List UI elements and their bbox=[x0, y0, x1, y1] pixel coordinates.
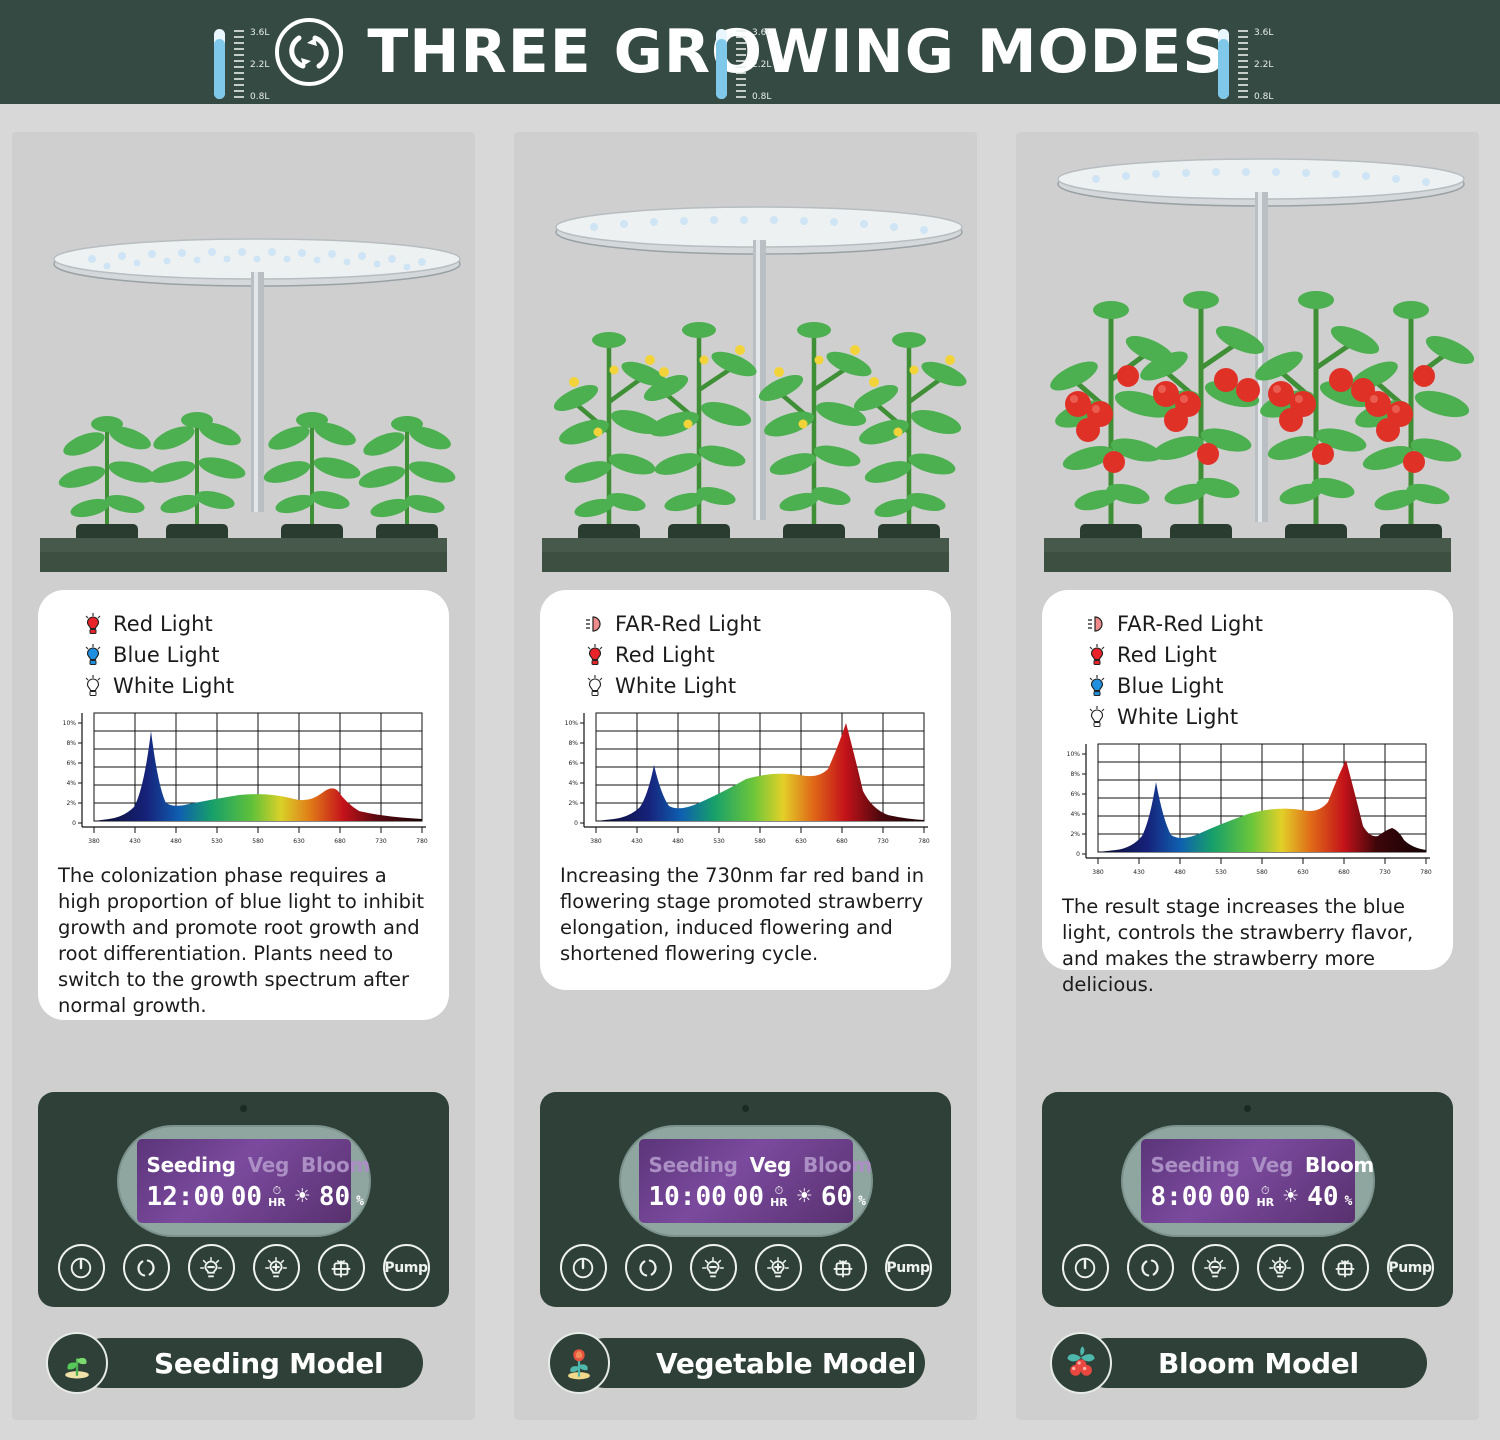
svg-text:630: 630 bbox=[795, 838, 807, 845]
clock-icon: ⏱ bbox=[775, 1186, 784, 1197]
lcd-seconds-value: 00 bbox=[733, 1182, 764, 1212]
svg-text:430: 430 bbox=[1133, 869, 1145, 876]
mode-cycle-icon[interactable] bbox=[1127, 1244, 1174, 1291]
svg-text:680: 680 bbox=[836, 838, 848, 845]
legend-label: White Light bbox=[615, 674, 736, 698]
svg-text:630: 630 bbox=[1297, 869, 1309, 876]
spectrum-card-bloom: FAR-Red Light Red Light bbox=[1042, 590, 1453, 970]
legend-seeding: Red Light Blue Light bbox=[82, 608, 433, 701]
svg-text:2%: 2% bbox=[568, 800, 578, 807]
mode-cycle-icon[interactable] bbox=[625, 1244, 672, 1291]
gauge-mark-high: 3.6L bbox=[752, 28, 771, 38]
panel-description: The colonization phase requires a high p… bbox=[54, 863, 433, 1019]
svg-text:6%: 6% bbox=[568, 760, 578, 767]
badge-label: Bloom Model bbox=[1158, 1347, 1359, 1380]
legend-vegetable: FAR-Red Light Red Light bbox=[584, 608, 935, 701]
svg-text:530: 530 bbox=[1215, 869, 1227, 876]
device-illustration-bloom: 3.6L 2.2L 0.8L bbox=[1016, 132, 1479, 572]
lcd-display: Seeding Veg Bloom 8:00 00 ⏱ HR ☀ 40 % bbox=[1141, 1139, 1355, 1223]
svg-text:780: 780 bbox=[918, 838, 930, 845]
svg-text:580: 580 bbox=[754, 838, 766, 845]
legend-item: Red Light bbox=[1086, 639, 1437, 670]
svg-text:730: 730 bbox=[1379, 869, 1391, 876]
lcd-hr-label: HR bbox=[268, 1197, 286, 1208]
brightness-sun-icon: ☀ bbox=[1282, 1185, 1299, 1208]
lcd-mode-bloom: Bloom bbox=[301, 1153, 370, 1177]
page-title: THREE GROWING MODES bbox=[367, 17, 1226, 87]
legend-label: FAR-Red Light bbox=[615, 612, 761, 636]
svg-text:780: 780 bbox=[416, 838, 428, 845]
pump-icon[interactable]: Pump bbox=[383, 1244, 430, 1291]
legend-item: White Light bbox=[1086, 701, 1437, 732]
svg-text:780: 780 bbox=[1420, 869, 1432, 876]
control-panel-seeding: Seeding Veg Bloom 12:00 00 ⏱ HR ☀ 80 % bbox=[38, 1092, 449, 1307]
white-bulb-icon bbox=[82, 674, 104, 698]
legend-item: White Light bbox=[584, 670, 935, 701]
legend-item: FAR-Red Light bbox=[1086, 608, 1437, 639]
svg-text:6%: 6% bbox=[1070, 791, 1080, 798]
lcd-hour-unit: ⏱ HR bbox=[268, 1186, 286, 1208]
legend-bloom: FAR-Red Light Red Light bbox=[1086, 608, 1437, 732]
blue-bulb-icon bbox=[82, 643, 104, 667]
lcd-mode-seeding: Seeding bbox=[147, 1153, 236, 1177]
svg-text:680: 680 bbox=[334, 838, 346, 845]
svg-text:4%: 4% bbox=[1070, 811, 1080, 818]
legend-label: FAR-Red Light bbox=[1117, 612, 1263, 636]
lcd-bezel: Seeding Veg Bloom 10:00 00 ⏱ HR ☀ 60 % bbox=[619, 1125, 873, 1237]
lcd-mode-veg: Veg bbox=[1252, 1153, 1293, 1177]
svg-text:0: 0 bbox=[1076, 851, 1080, 858]
lcd-brightness-unit: % bbox=[356, 1182, 364, 1212]
svg-text:430: 430 bbox=[129, 838, 141, 845]
lcd-seconds-value: 00 bbox=[1219, 1182, 1250, 1212]
legend-item: White Light bbox=[82, 670, 433, 701]
berries-icon bbox=[1050, 1332, 1112, 1394]
lcd-mode-veg: Veg bbox=[750, 1153, 791, 1177]
gauge-mark-low: 0.8L bbox=[752, 92, 771, 102]
badge-label: Vegetable Model bbox=[656, 1347, 916, 1380]
lcd-display: Seeding Veg Bloom 10:00 00 ⏱ HR ☀ 60 % bbox=[639, 1139, 853, 1223]
legend-label: Blue Light bbox=[1117, 674, 1224, 698]
indicator-dot bbox=[240, 1105, 247, 1112]
indicator-dot bbox=[1244, 1105, 1251, 1112]
gauge-mark-mid: 2.2L bbox=[752, 60, 771, 70]
red-bulb-icon bbox=[82, 612, 104, 636]
svg-text:480: 480 bbox=[672, 838, 684, 845]
mode-badge-bloom: Bloom Model bbox=[1042, 1332, 1453, 1394]
lcd-hour-unit: ⏱ HR bbox=[770, 1186, 788, 1208]
lcd-brightness-unit: % bbox=[858, 1182, 866, 1212]
panel-description: Increasing the 730nm far red band in flo… bbox=[556, 863, 935, 967]
gauge-mark-mid: 2.2L bbox=[250, 60, 269, 70]
svg-text:480: 480 bbox=[170, 838, 182, 845]
lcd-brightness-value: 60 bbox=[821, 1182, 852, 1212]
badge-pill: Seeding Model bbox=[78, 1338, 423, 1388]
svg-text:530: 530 bbox=[211, 838, 223, 845]
far-red-icon bbox=[584, 612, 606, 636]
svg-text:2%: 2% bbox=[1070, 831, 1080, 838]
lcd-readout-row: 8:00 00 ⏱ HR ☀ 40 % bbox=[1151, 1182, 1345, 1212]
lcd-timer-value: 12:00 bbox=[147, 1182, 225, 1212]
control-button-row: Pump bbox=[540, 1244, 951, 1291]
lcd-hr-label: HR bbox=[770, 1197, 788, 1208]
lcd-readout-row: 10:00 00 ⏱ HR ☀ 60 % bbox=[649, 1182, 843, 1212]
svg-text:630: 630 bbox=[293, 838, 305, 845]
legend-item: Red Light bbox=[82, 608, 433, 639]
fan-timer-icon[interactable] bbox=[318, 1244, 365, 1291]
lcd-bezel: Seeding Veg Bloom 12:00 00 ⏱ HR ☀ 80 % bbox=[117, 1125, 371, 1237]
svg-text:10%: 10% bbox=[63, 720, 77, 727]
svg-text:8%: 8% bbox=[66, 740, 76, 747]
legend-label: Red Light bbox=[1117, 643, 1217, 667]
mode-badge-vegetable: Vegetable Model bbox=[540, 1332, 951, 1394]
control-panel-vegetable: Seeding Veg Bloom 10:00 00 ⏱ HR ☀ 60 % bbox=[540, 1092, 951, 1307]
panel-seeding: 3.6L 2.2L 0.8L Red Light bbox=[12, 132, 475, 1420]
svg-text:8%: 8% bbox=[1070, 771, 1080, 778]
power-icon[interactable] bbox=[1062, 1244, 1109, 1291]
legend-label: White Light bbox=[1117, 705, 1238, 729]
far-red-icon bbox=[1086, 612, 1108, 636]
control-panel-bloom: Seeding Veg Bloom 8:00 00 ⏱ HR ☀ 40 % bbox=[1042, 1092, 1453, 1307]
badge-pill: Vegetable Model bbox=[580, 1338, 925, 1388]
clock-icon: ⏱ bbox=[1261, 1186, 1270, 1197]
lcd-brightness-unit: % bbox=[1344, 1182, 1352, 1212]
svg-text:730: 730 bbox=[877, 838, 889, 845]
svg-text:430: 430 bbox=[631, 838, 643, 845]
gauge-mark-low: 0.8L bbox=[250, 92, 269, 102]
lcd-timer-value: 10:00 bbox=[649, 1182, 727, 1212]
badge-pill: Bloom Model bbox=[1082, 1338, 1427, 1388]
light-decrease-icon[interactable] bbox=[188, 1244, 235, 1291]
control-button-row: Pump bbox=[38, 1244, 449, 1291]
lcd-hour-unit: ⏱ HR bbox=[1256, 1186, 1274, 1208]
water-level-gauge: 3.6L 2.2L 0.8L bbox=[1210, 17, 1290, 112]
blue-bulb-icon bbox=[1086, 674, 1108, 698]
fan-timer-icon[interactable] bbox=[820, 1244, 867, 1291]
svg-text:680: 680 bbox=[1338, 869, 1350, 876]
panel-bloom: 3.6L 2.2L 0.8L FAR-Red Light bbox=[1016, 132, 1479, 1420]
lcd-mode-seeding: Seeding bbox=[1151, 1153, 1240, 1177]
power-icon[interactable] bbox=[58, 1244, 105, 1291]
lcd-mode-bloom: Bloom bbox=[803, 1153, 872, 1177]
lcd-mode-veg: Veg bbox=[248, 1153, 289, 1177]
lcd-mode-row: Seeding Veg Bloom bbox=[649, 1153, 843, 1177]
svg-text:730: 730 bbox=[375, 838, 387, 845]
white-bulb-icon bbox=[584, 674, 606, 698]
svg-text:380: 380 bbox=[1092, 869, 1104, 876]
svg-text:4%: 4% bbox=[66, 780, 76, 787]
lcd-brightness-value: 80 bbox=[319, 1182, 350, 1212]
legend-label: White Light bbox=[113, 674, 234, 698]
mode-badge-seeding: Seeding Model bbox=[38, 1332, 449, 1394]
gauge-mark-high: 3.6L bbox=[250, 28, 269, 38]
spectrum-chart-vegetable: 10%8%6% 4%2%0 bbox=[556, 707, 935, 855]
panel-description: The result stage increases the blue ligh… bbox=[1058, 894, 1437, 998]
red-bulb-icon bbox=[584, 643, 606, 667]
svg-text:530: 530 bbox=[713, 838, 725, 845]
lcd-mode-row: Seeding Veg Bloom bbox=[147, 1153, 341, 1177]
svg-text:6%: 6% bbox=[66, 760, 76, 767]
water-level-gauge: 3.6L 2.2L 0.8L bbox=[708, 17, 788, 112]
pump-label: Pump bbox=[1388, 1260, 1431, 1276]
gauge-mark-high: 3.6L bbox=[1254, 28, 1273, 38]
light-increase-icon[interactable] bbox=[755, 1244, 802, 1291]
lcd-mode-row: Seeding Veg Bloom bbox=[1151, 1153, 1345, 1177]
sprout-icon bbox=[46, 1332, 108, 1394]
svg-text:380: 380 bbox=[88, 838, 100, 845]
light-decrease-icon[interactable] bbox=[690, 1244, 737, 1291]
lcd-bezel: Seeding Veg Bloom 8:00 00 ⏱ HR ☀ 40 % bbox=[1121, 1125, 1375, 1237]
mode-cycle-icon[interactable] bbox=[123, 1244, 170, 1291]
legend-item: Red Light bbox=[584, 639, 935, 670]
lcd-display: Seeding Veg Bloom 12:00 00 ⏱ HR ☀ 80 % bbox=[137, 1139, 351, 1223]
gauge-mark-low: 0.8L bbox=[1254, 92, 1273, 102]
gauge-mark-mid: 2.2L bbox=[1254, 60, 1273, 70]
svg-text:10%: 10% bbox=[565, 720, 579, 727]
lcd-timer-value: 8:00 bbox=[1151, 1182, 1214, 1212]
control-button-row: Pump bbox=[1042, 1244, 1453, 1291]
lcd-readout-row: 12:00 00 ⏱ HR ☀ 80 % bbox=[147, 1182, 341, 1212]
svg-text:480: 480 bbox=[1174, 869, 1186, 876]
legend-item: Blue Light bbox=[82, 639, 433, 670]
white-bulb-icon bbox=[1086, 705, 1108, 729]
pump-icon[interactable]: Pump bbox=[1387, 1244, 1434, 1291]
light-increase-icon[interactable] bbox=[253, 1244, 300, 1291]
light-increase-icon[interactable] bbox=[1257, 1244, 1304, 1291]
infographic-page: THREE GROWING MODES bbox=[0, 0, 1500, 1440]
spectrum-card-seeding: Red Light Blue Light bbox=[38, 590, 449, 1020]
legend-item: Blue Light bbox=[1086, 670, 1437, 701]
spectrum-card-vegetable: FAR-Red Light Red Light bbox=[540, 590, 951, 990]
brightness-sun-icon: ☀ bbox=[294, 1185, 311, 1208]
spectrum-chart-bloom: 10%8%6% 4%2%0 bbox=[1058, 738, 1437, 886]
svg-text:2%: 2% bbox=[66, 800, 76, 807]
svg-text:0: 0 bbox=[72, 820, 76, 827]
panel-vegetable: 3.6L 2.2L 0.8L FAR-Red Light bbox=[514, 132, 977, 1420]
legend-label: Red Light bbox=[113, 612, 213, 636]
lcd-mode-bloom: Bloom bbox=[1305, 1153, 1374, 1177]
legend-item: FAR-Red Light bbox=[584, 608, 935, 639]
svg-text:8%: 8% bbox=[568, 740, 578, 747]
legend-label: Blue Light bbox=[113, 643, 220, 667]
brightness-sun-icon: ☀ bbox=[796, 1185, 813, 1208]
lcd-hr-label: HR bbox=[1256, 1197, 1274, 1208]
svg-text:4%: 4% bbox=[568, 780, 578, 787]
water-level-gauge: 3.6L 2.2L 0.8L bbox=[206, 17, 286, 112]
pump-label: Pump bbox=[384, 1260, 427, 1276]
light-decrease-icon[interactable] bbox=[1192, 1244, 1239, 1291]
lcd-brightness-value: 40 bbox=[1307, 1182, 1338, 1212]
pump-icon[interactable]: Pump bbox=[885, 1244, 932, 1291]
clock-icon: ⏱ bbox=[273, 1186, 282, 1197]
lcd-mode-seeding: Seeding bbox=[649, 1153, 738, 1177]
device-illustration-vegetable: 3.6L 2.2L 0.8L bbox=[514, 132, 977, 572]
svg-text:380: 380 bbox=[590, 838, 602, 845]
lcd-seconds-value: 00 bbox=[231, 1182, 262, 1212]
legend-label: Red Light bbox=[615, 643, 715, 667]
svg-text:580: 580 bbox=[1256, 869, 1268, 876]
svg-text:0: 0 bbox=[574, 820, 578, 827]
indicator-dot bbox=[742, 1105, 749, 1112]
spectrum-chart-seeding: 10%8%6% 4%2%0 bbox=[54, 707, 433, 855]
flower-icon bbox=[548, 1332, 610, 1394]
red-bulb-icon bbox=[1086, 643, 1108, 667]
device-illustration-seeding: 3.6L 2.2L 0.8L bbox=[12, 132, 475, 572]
pump-label: Pump bbox=[886, 1260, 929, 1276]
badge-label: Seeding Model bbox=[154, 1347, 383, 1380]
svg-text:10%: 10% bbox=[1067, 751, 1081, 758]
power-icon[interactable] bbox=[560, 1244, 607, 1291]
svg-text:580: 580 bbox=[252, 838, 264, 845]
fan-timer-icon[interactable] bbox=[1322, 1244, 1369, 1291]
